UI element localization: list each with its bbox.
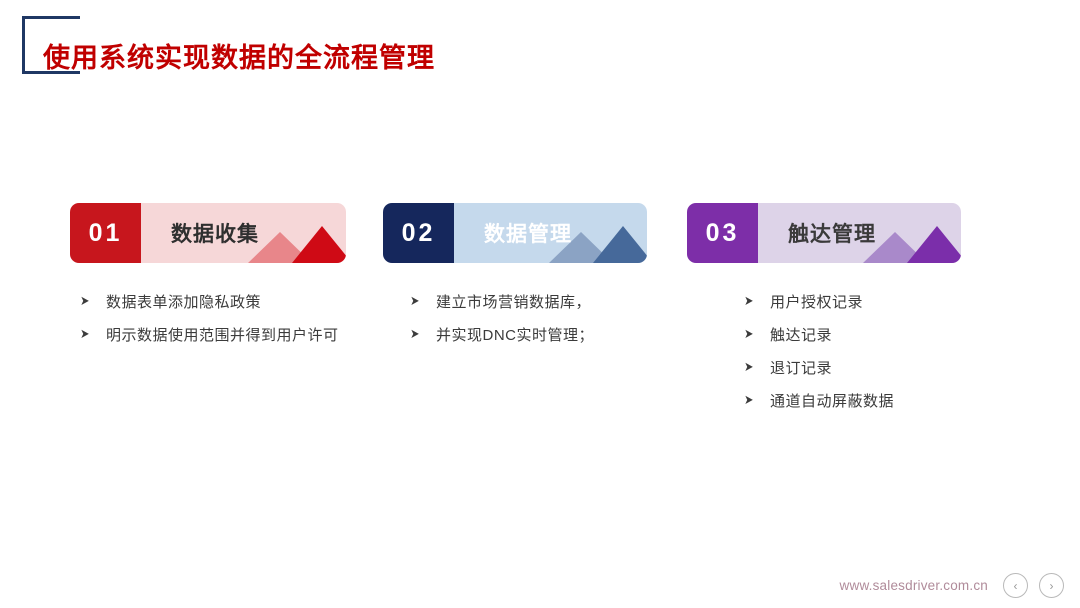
page-title-area: 使用系统实现数据的全流程管理 bbox=[22, 16, 622, 96]
arrow-bullet-icon: ➤ bbox=[410, 290, 434, 311]
step-card-01[interactable]: 01 数据收集 bbox=[70, 203, 346, 263]
list-item-text: 并实现DNC实时管理； bbox=[436, 323, 594, 348]
list-item-text: 触达记录 bbox=[770, 323, 832, 348]
list-item-text: 数据表单添加隐私政策 bbox=[106, 290, 261, 315]
list-item: ➤ 通道自动屏蔽数据 bbox=[742, 389, 1002, 414]
prev-slide-button[interactable]: ‹ bbox=[1003, 573, 1028, 598]
list-item-text: 用户授权记录 bbox=[770, 290, 863, 315]
list-item: ➤ 数据表单添加隐私政策 bbox=[78, 290, 353, 315]
list-item: ➤ 退订记录 bbox=[742, 356, 1002, 381]
page-title: 使用系统实现数据的全流程管理 bbox=[43, 36, 435, 75]
triangle-front-icon bbox=[292, 226, 346, 263]
arrow-bullet-icon: ➤ bbox=[744, 290, 768, 311]
list-item: ➤ 明示数据使用范围并得到用户许可 bbox=[78, 323, 353, 348]
list-item-text: 明示数据使用范围并得到用户许可 bbox=[106, 323, 339, 348]
step-label-02: 数据管理 bbox=[484, 218, 572, 248]
list-item-text: 退订记录 bbox=[770, 356, 832, 381]
step-label-03: 触达管理 bbox=[788, 218, 876, 248]
list-item: ➤ 用户授权记录 bbox=[742, 290, 1002, 315]
bullet-list-03: ➤ 用户授权记录 ➤ 触达记录 ➤ 退订记录 ➤ 通道自动屏蔽数据 bbox=[742, 290, 1002, 422]
next-slide-button[interactable]: › bbox=[1039, 573, 1064, 598]
arrow-bullet-icon: ➤ bbox=[744, 356, 768, 377]
footer-url[interactable]: www.salesdriver.com.cn bbox=[840, 578, 988, 593]
step-card-body-02: 数据管理 bbox=[454, 203, 647, 263]
triangle-front-icon bbox=[907, 226, 961, 263]
bullet-list-01: ➤ 数据表单添加隐私政策 ➤ 明示数据使用范围并得到用户许可 bbox=[78, 290, 353, 356]
list-item: ➤ 并实现DNC实时管理； bbox=[408, 323, 658, 348]
step-card-body-03: 触达管理 bbox=[758, 203, 961, 263]
step-number-01: 01 bbox=[70, 203, 141, 263]
arrow-bullet-icon: ➤ bbox=[744, 323, 768, 344]
list-item-text: 通道自动屏蔽数据 bbox=[770, 389, 894, 414]
bullet-list-02: ➤ 建立市场营销数据库， ➤ 并实现DNC实时管理； bbox=[408, 290, 658, 356]
arrow-bullet-icon: ➤ bbox=[744, 389, 768, 410]
step-number-02: 02 bbox=[383, 203, 454, 263]
arrow-bullet-icon: ➤ bbox=[80, 290, 104, 311]
step-cards: 01 数据收集 02 数据管理 03 触达管理 bbox=[0, 203, 1080, 265]
list-item: ➤ 建立市场营销数据库， bbox=[408, 290, 658, 315]
list-item-text: 建立市场营销数据库， bbox=[436, 290, 591, 315]
step-label-01: 数据收集 bbox=[171, 218, 259, 248]
list-item: ➤ 触达记录 bbox=[742, 323, 1002, 348]
arrow-bullet-icon: ➤ bbox=[80, 323, 104, 344]
footer: www.salesdriver.com.cn ‹ › bbox=[840, 573, 1064, 598]
step-card-body-01: 数据收集 bbox=[141, 203, 346, 263]
arrow-bullet-icon: ➤ bbox=[410, 323, 434, 344]
step-card-02[interactable]: 02 数据管理 bbox=[383, 203, 647, 263]
step-number-03: 03 bbox=[687, 203, 758, 263]
triangle-front-icon bbox=[593, 226, 647, 263]
step-card-03[interactable]: 03 触达管理 bbox=[687, 203, 961, 263]
